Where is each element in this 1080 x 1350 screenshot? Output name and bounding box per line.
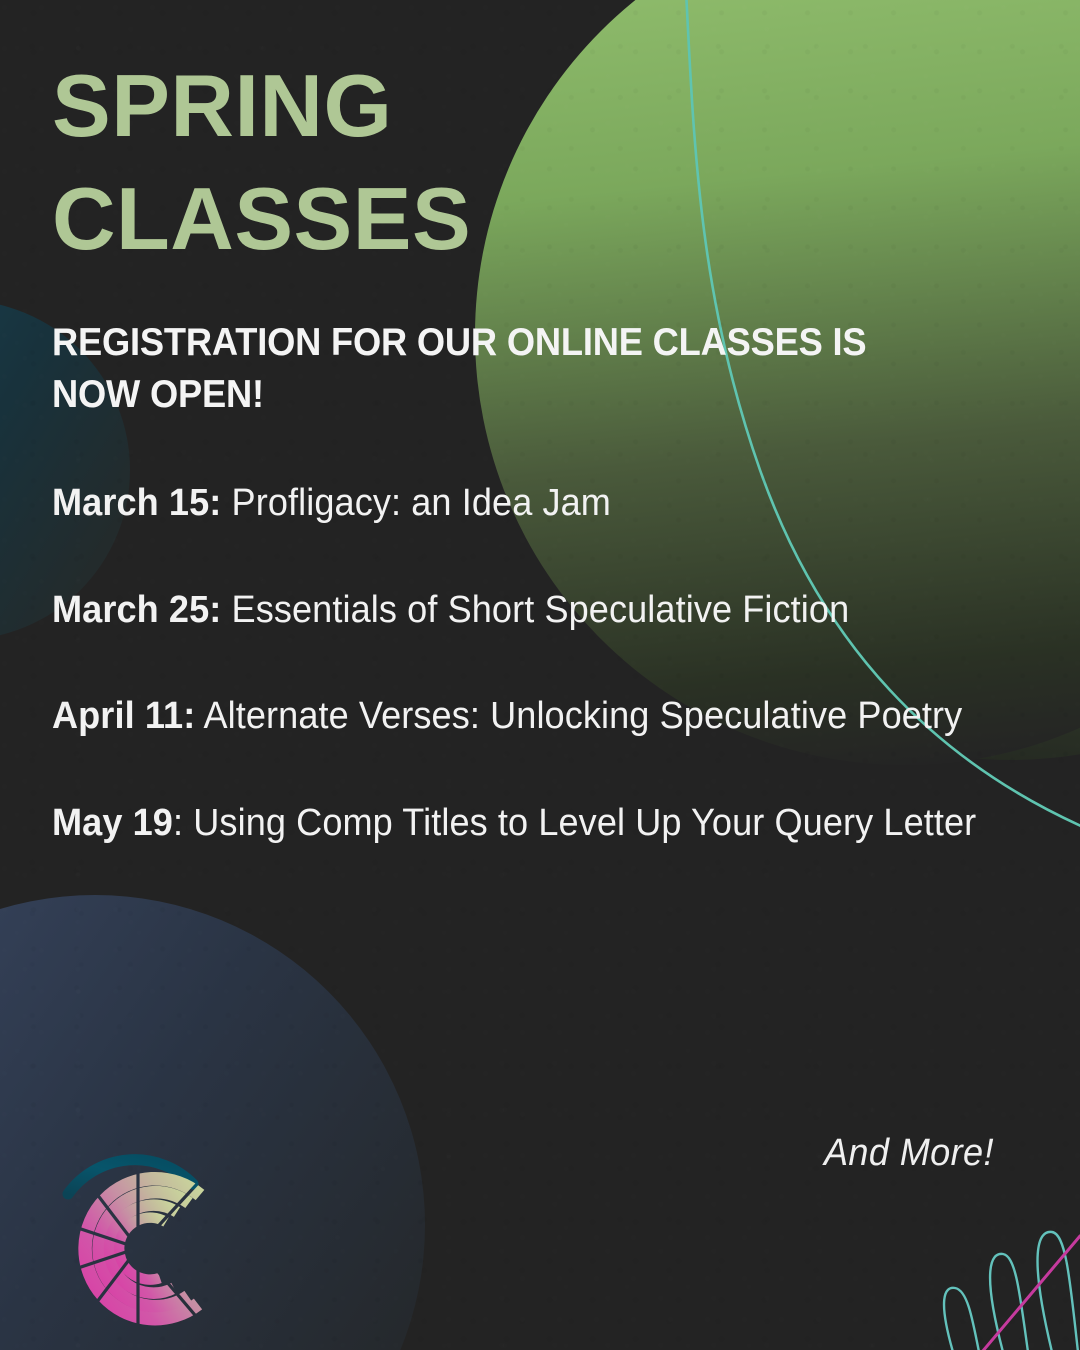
list-item: April 11: Alternate Verses: Unlocking Sp… <box>52 686 979 748</box>
class-date: March 15 <box>52 482 209 524</box>
class-date: May 19 <box>52 802 173 844</box>
class-date: April 11 <box>52 695 183 737</box>
title-line-2: CLASSES <box>52 163 1028 276</box>
class-separator: : <box>183 695 195 737</box>
page-title: SPRING CLASSES <box>52 50 1028 275</box>
class-separator: : <box>173 802 183 844</box>
logo-c-rings <box>85 1179 200 1319</box>
subtitle: Registration for our online classes is n… <box>52 317 960 421</box>
list-item: May 19: Using Comp Titles to Level Up Yo… <box>52 793 979 855</box>
class-separator: : <box>209 589 221 631</box>
and-more-label: And More! <box>824 1132 994 1175</box>
class-list: March 15: Profligacy: an Idea Jam March … <box>52 473 1028 854</box>
title-line-1: SPRING <box>52 50 1028 163</box>
brand-logo <box>38 1148 250 1348</box>
list-item: March 25: Essentials of Short Speculativ… <box>52 580 979 642</box>
class-name: Alternate Verses: Unlocking Speculative … <box>203 695 962 737</box>
list-item: March 15: Profligacy: an Idea Jam <box>52 473 979 535</box>
class-date: March 25 <box>52 589 209 631</box>
class-name: Profligacy: an Idea Jam <box>232 482 611 524</box>
spring-classes-poster: SPRING CLASSES Registration for our onli… <box>0 0 1080 1350</box>
class-name: Essentials of Short Speculative Fiction <box>232 589 850 631</box>
class-name: Using Comp Titles to Level Up Your Query… <box>193 802 976 844</box>
class-separator: : <box>209 482 221 524</box>
